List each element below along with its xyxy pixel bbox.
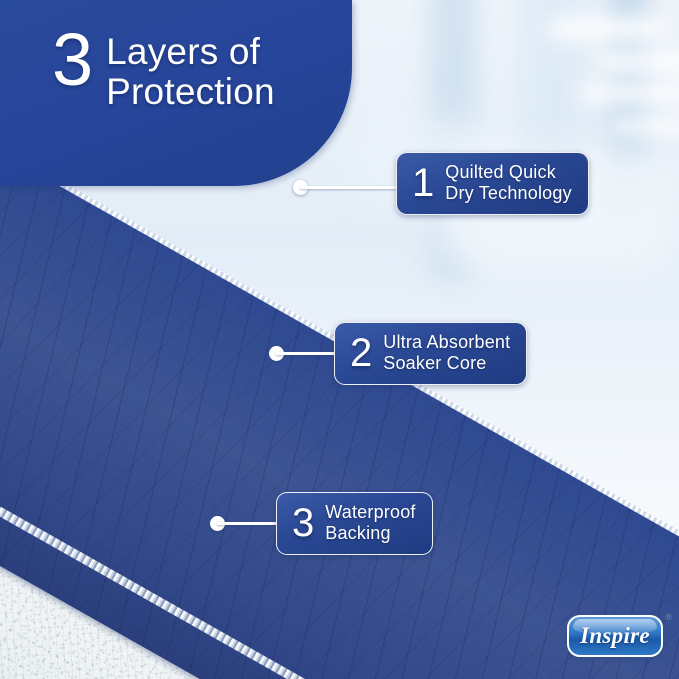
callout-3-line-2: Backing xyxy=(325,523,415,544)
title-panel: 3 Layers of Protection xyxy=(0,0,352,186)
product-infographic: 3 Layers of Protection 1 Quilted Quick D… xyxy=(0,0,679,679)
callout-3-connector xyxy=(217,522,280,525)
callout-1[interactable]: 1 Quilted Quick Dry Technology xyxy=(396,152,589,215)
title-content: 3 Layers of Protection xyxy=(52,26,275,111)
callout-1-line-1: Quilted Quick xyxy=(445,162,572,183)
callout-1-label: Quilted Quick Dry Technology xyxy=(445,162,572,204)
callout-1-line-2: Dry Technology xyxy=(445,183,572,204)
callout-2-label: Ultra Absorbent Soaker Core xyxy=(383,332,510,374)
title-line-2: Protection xyxy=(106,72,275,112)
callout-3-label: Waterproof Backing xyxy=(325,502,415,544)
callout-3-number: 3 xyxy=(292,503,314,543)
callout-2-connector xyxy=(276,352,338,355)
callout-2-number: 2 xyxy=(350,333,372,373)
callout-3-line-1: Waterproof xyxy=(325,502,415,523)
registered-trademark-icon: ® xyxy=(665,612,672,622)
logo-wordmark: Inspire xyxy=(569,617,661,655)
title-text: Layers of Protection xyxy=(106,26,275,111)
callout-3[interactable]: 3 Waterproof Backing xyxy=(276,492,433,555)
brand-logo: Inspire ® xyxy=(567,615,663,657)
callout-2[interactable]: 2 Ultra Absorbent Soaker Core xyxy=(334,322,527,385)
callout-1-number: 1 xyxy=(412,163,434,203)
logo-badge: Inspire xyxy=(567,615,663,657)
callout-2-line-2: Soaker Core xyxy=(383,353,510,374)
title-number: 3 xyxy=(52,26,92,94)
callout-2-line-1: Ultra Absorbent xyxy=(383,332,510,353)
title-line-1: Layers of xyxy=(106,32,275,72)
callout-1-connector xyxy=(300,186,404,189)
